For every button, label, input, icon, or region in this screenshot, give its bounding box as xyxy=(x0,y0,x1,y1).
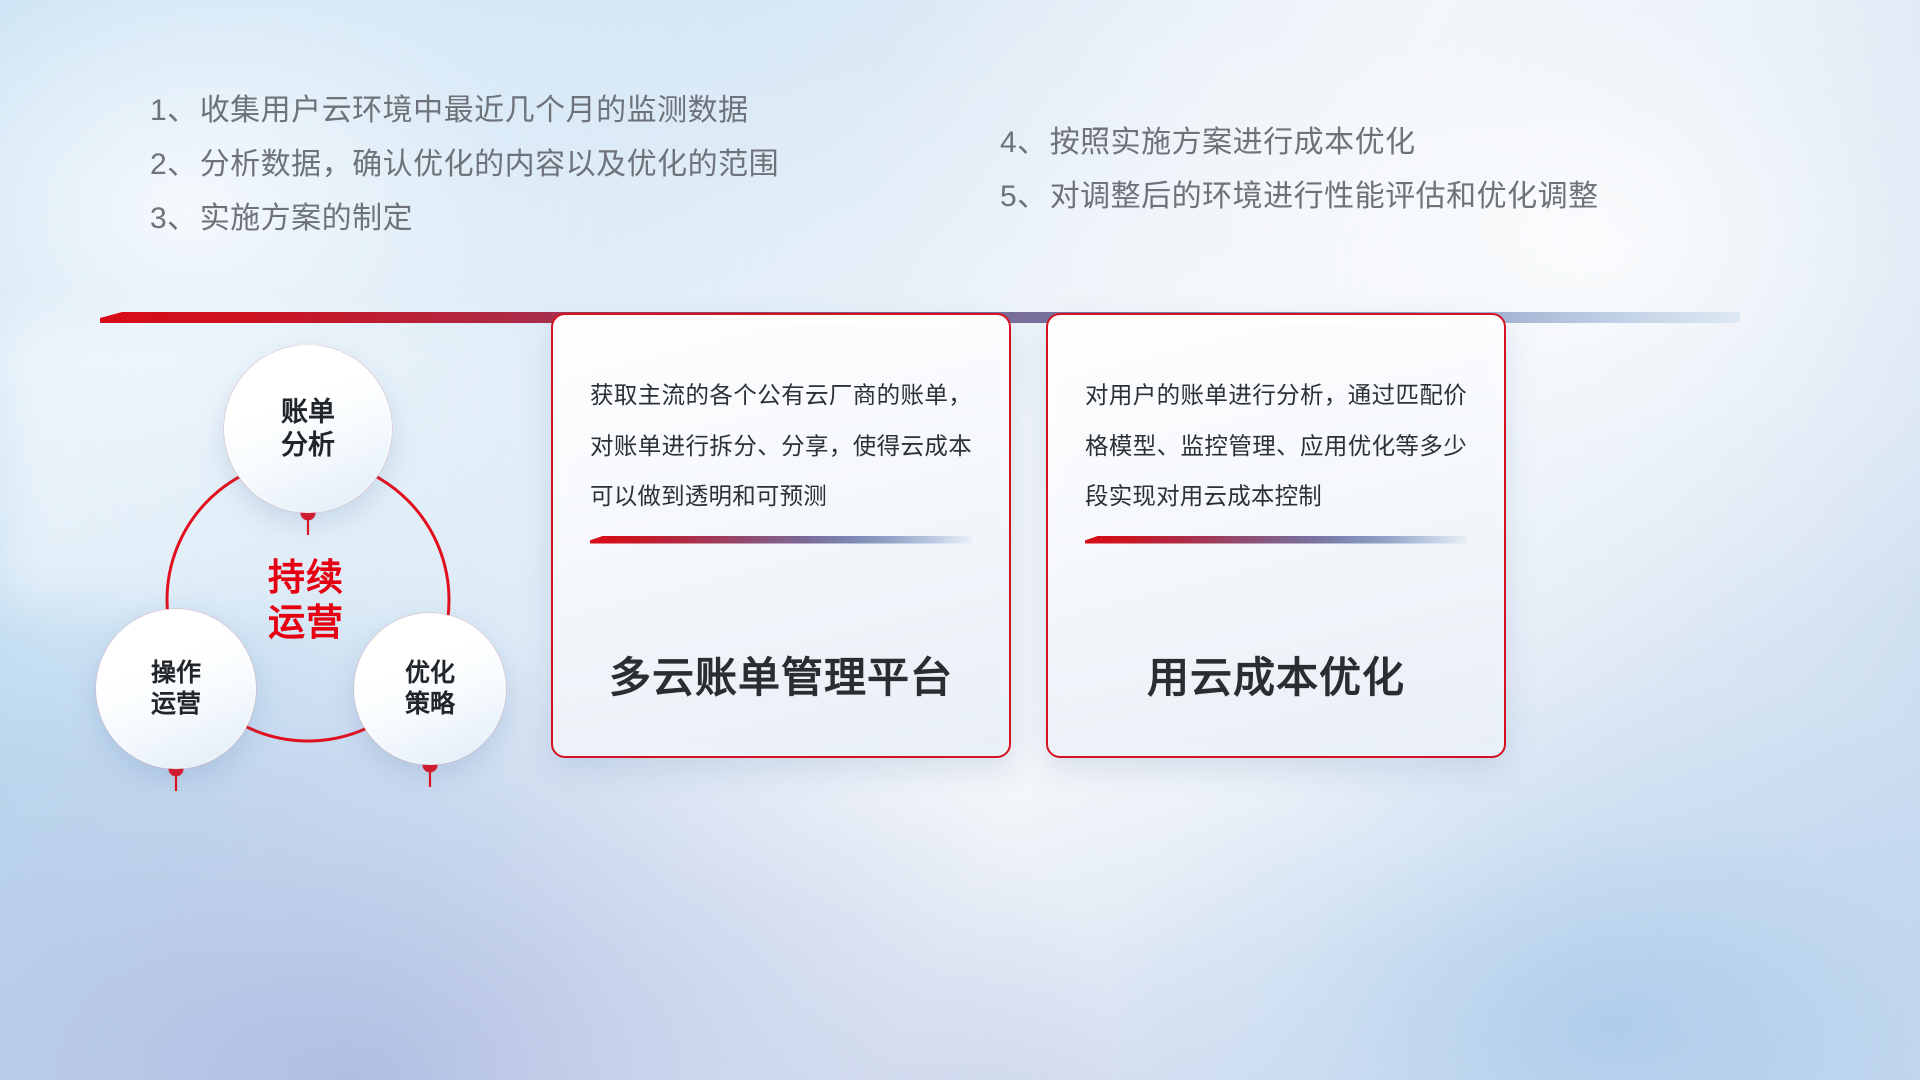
list-item-label: 收集用户云环境中最近几个月的监测数据 xyxy=(200,96,749,126)
feature-card-multicloud-billing[interactable]: 获取主流的各个公有云厂商的账单，对账单进行拆分、分享，使得云成本可以做到透明和可… xyxy=(551,313,1011,758)
card-title: 用云成本优化 xyxy=(1085,644,1467,705)
process-steps-section: 1、 收集用户云环境中最近几个月的监测数据 2、 分析数据，确认优化的内容以及优… xyxy=(0,96,1920,276)
card-body-text: 对用户的账单进行分析，通过匹配价格模型、监控管理、应用优化等多少段实现对用云成本… xyxy=(1085,370,1467,522)
list-item-label: 实施方案的制定 xyxy=(200,204,414,234)
card-divider-line xyxy=(590,536,972,544)
steps-column-right: 4、 按照实施方案进行成本优化 5、 对调整后的环境进行性能评估和优化调整 xyxy=(1000,128,1599,236)
list-item-number: 1、 xyxy=(150,96,198,126)
list-item-label: 分析数据，确认优化的内容以及优化的范围 xyxy=(200,150,780,180)
center-label-line1: 持续 xyxy=(268,555,344,600)
bubble-label-line1: 操作 xyxy=(151,658,201,689)
list-item-number: 4、 xyxy=(1000,128,1048,158)
card-body-text: 获取主流的各个公有云厂商的账单，对账单进行拆分、分享，使得云成本可以做到透明和可… xyxy=(590,370,972,522)
list-item: 5、 对调整后的环境进行性能评估和优化调整 xyxy=(1000,182,1599,212)
bubble-label-line2: 策略 xyxy=(405,689,455,720)
card-title: 多云账单管理平台 xyxy=(590,644,972,705)
card-divider-line xyxy=(1085,536,1467,544)
card-inner-panel: 对用户的账单进行分析，通过匹配价格模型、监控管理、应用优化等多少段实现对用云成本… xyxy=(1057,324,1495,747)
list-item: 3、 实施方案的制定 xyxy=(150,204,779,234)
center-label-line2: 运营 xyxy=(268,600,344,645)
card-inner-panel: 获取主流的各个公有云厂商的账单，对账单进行拆分、分享，使得云成本可以做到透明和可… xyxy=(562,324,1000,747)
list-item: 4、 按照实施方案进行成本优化 xyxy=(1000,128,1599,158)
list-item-number: 2、 xyxy=(150,150,198,180)
list-item-number: 5、 xyxy=(1000,182,1048,212)
list-item-number: 3、 xyxy=(150,204,198,234)
steps-column-left: 1、 收集用户云环境中最近几个月的监测数据 2、 分析数据，确认优化的内容以及优… xyxy=(150,96,779,258)
bubble-label-line1: 账单 xyxy=(281,396,335,429)
bubble-label-line2: 分析 xyxy=(281,429,335,462)
list-item: 1、 收集用户云环境中最近几个月的监测数据 xyxy=(150,96,779,126)
list-item-label: 按照实施方案进行成本优化 xyxy=(1050,128,1416,158)
list-item-label: 对调整后的环境进行性能评估和优化调整 xyxy=(1050,182,1599,212)
diagram-bubble-bill-analysis[interactable]: 账单 分析 xyxy=(224,345,392,513)
list-item: 2、 分析数据，确认优化的内容以及优化的范围 xyxy=(150,150,779,180)
bubble-label-line2: 运营 xyxy=(151,689,201,720)
bubble-label-line1: 优化 xyxy=(405,658,455,689)
diagram-center-label: 持续 运营 xyxy=(206,545,406,655)
feature-card-cloud-cost-optimization[interactable]: 对用户的账单进行分析，通过匹配价格模型、监控管理、应用优化等多少段实现对用云成本… xyxy=(1046,313,1506,758)
